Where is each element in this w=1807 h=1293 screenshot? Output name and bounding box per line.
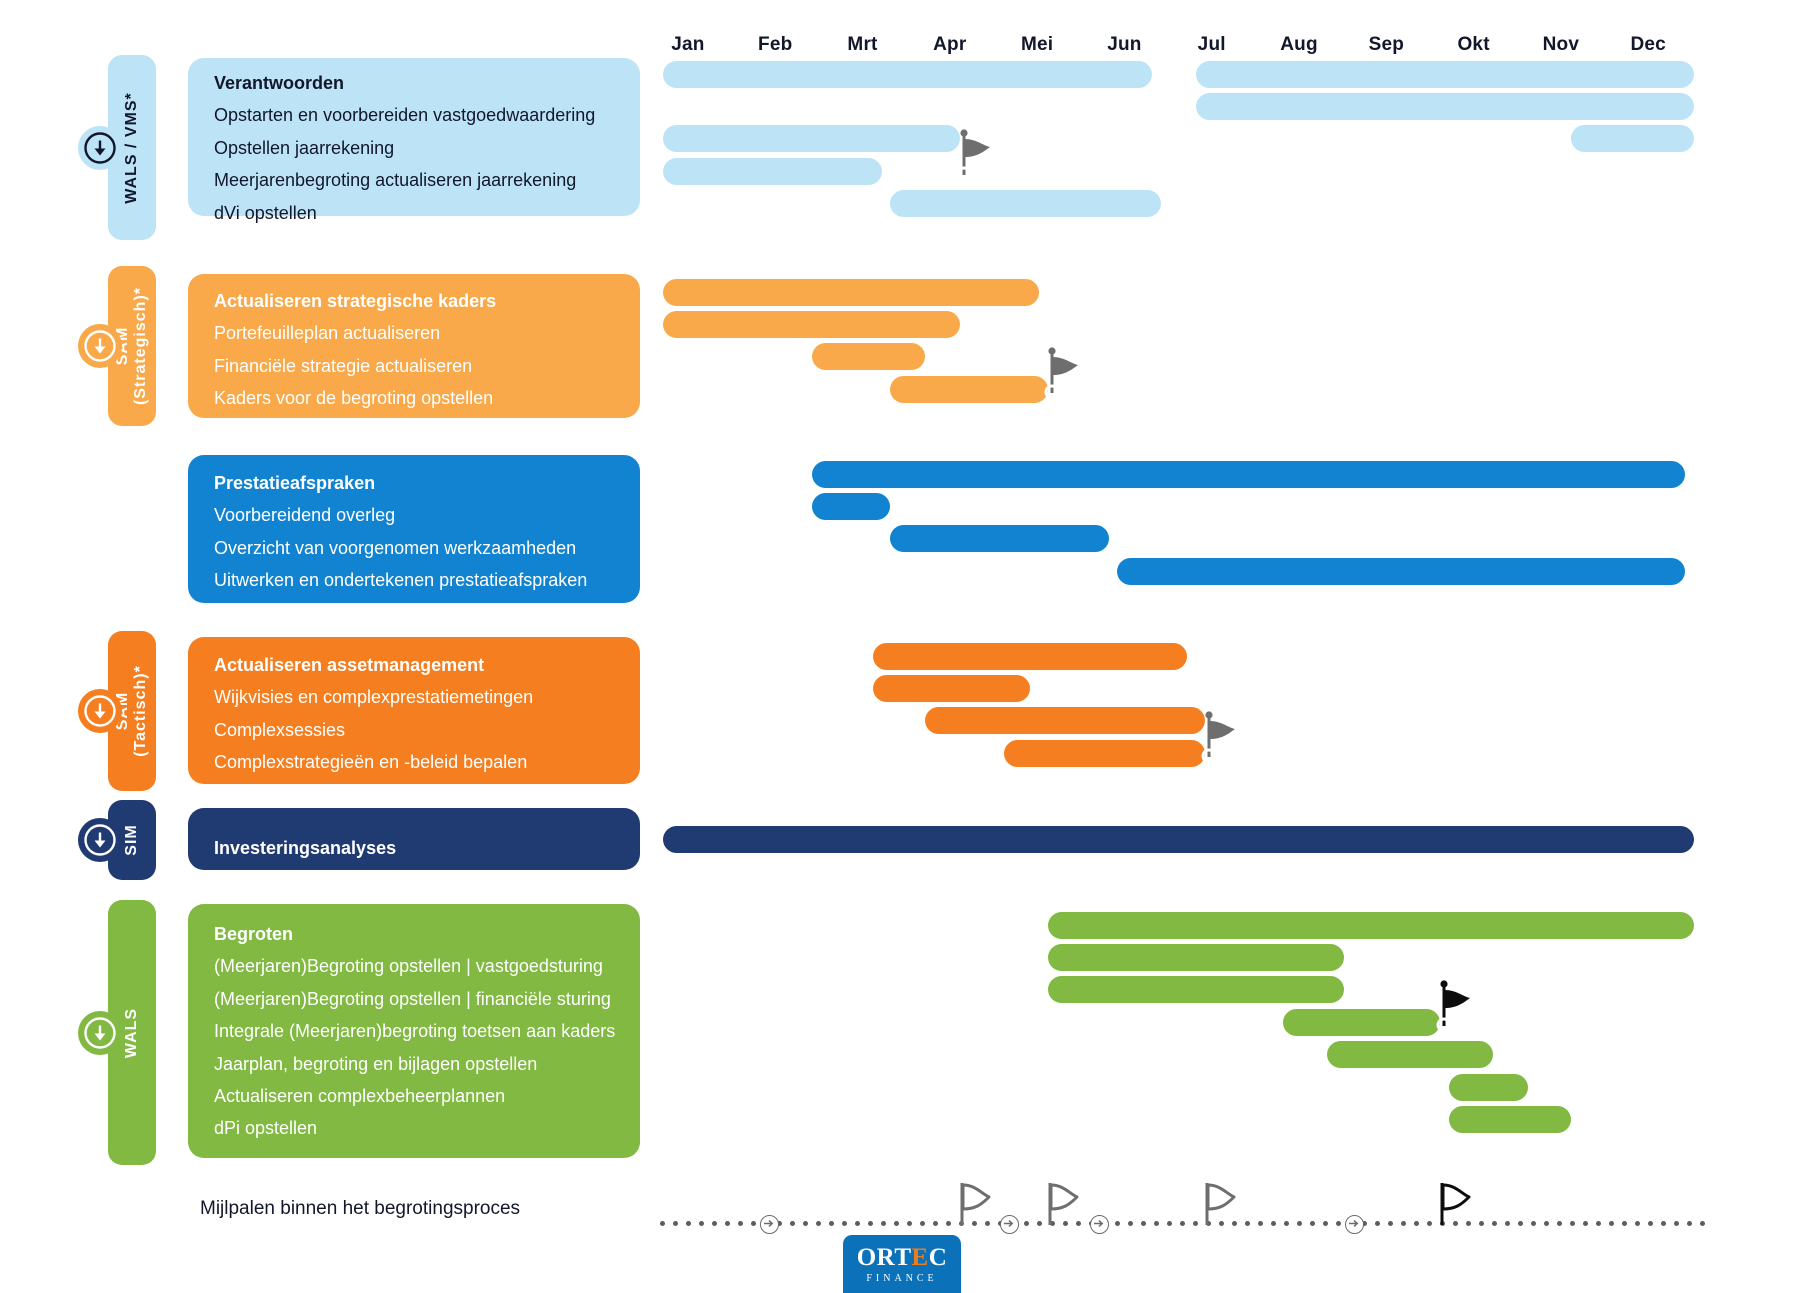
timeline-dot: [829, 1221, 834, 1226]
gantt-bar[interactable]: [1449, 1074, 1528, 1101]
timeline-dot: [1388, 1221, 1393, 1226]
task-label: Opstellen jaarrekening: [214, 139, 394, 157]
milestone-flag-icon: [1436, 978, 1482, 1034]
logo-subtitle: FINANCE: [866, 1274, 937, 1284]
month-label-nov: Nov: [1543, 34, 1580, 56]
task-label: Wijkvisies en complexprestatiemetingen: [214, 688, 533, 706]
timeline-dot: [920, 1221, 925, 1226]
gantt-bar[interactable]: [663, 158, 881, 185]
timeline-dot: [1427, 1221, 1432, 1226]
gantt-bar[interactable]: [1283, 1009, 1440, 1036]
section-card-wals: Begroten(Meerjaren)Begroting opstellen |…: [188, 904, 640, 1158]
month-label-feb: Feb: [758, 34, 792, 56]
timeline-dot: [1544, 1221, 1549, 1226]
footer-milestone-flag-icon[interactable]: [1042, 1179, 1088, 1231]
timeline-dot: [1674, 1221, 1679, 1226]
timeline-dot: [1401, 1221, 1406, 1226]
timeline-dot: [1492, 1221, 1497, 1226]
task-label: Kaders voor de begroting opstellen: [214, 389, 493, 407]
task-label: Actualiseren assetmanagement: [214, 656, 484, 674]
timeline-dot: [686, 1221, 691, 1226]
timeline-dot: [1687, 1221, 1692, 1226]
timeline-dot: [1180, 1221, 1185, 1226]
gantt-bar[interactable]: [663, 125, 960, 152]
gantt-bar[interactable]: [925, 707, 1204, 734]
timeline-dot: [1245, 1221, 1250, 1226]
ortec-finance-logo: ORTEC FINANCE: [843, 1235, 961, 1293]
month-label-mei: Mei: [1021, 34, 1053, 56]
task-label: Portefeuilleplan actualiseren: [214, 324, 440, 342]
gantt-bar[interactable]: [890, 376, 1047, 403]
gantt-bar[interactable]: [663, 826, 1693, 853]
footer-milestone-flag-icon[interactable]: [1434, 1179, 1480, 1231]
gantt-bar[interactable]: [890, 190, 1161, 217]
section-tab-label-sim: SIM: [123, 824, 141, 855]
timeline-dot: [1375, 1221, 1380, 1226]
timeline-dot: [712, 1221, 717, 1226]
task-label: Complexstrategieën en -beleid bepalen: [214, 753, 527, 771]
gantt-bar[interactable]: [663, 61, 1152, 88]
timeline-dot: [907, 1221, 912, 1226]
milestone-timeline: [0, 1180, 1807, 1240]
task-label: dPi opstellen: [214, 1119, 317, 1137]
timeline-dot: [1284, 1221, 1289, 1226]
month-label-sep: Sep: [1369, 34, 1404, 56]
gantt-bar[interactable]: [1117, 558, 1684, 585]
timeline-dot: [855, 1221, 860, 1226]
gantt-bar[interactable]: [663, 279, 1038, 306]
timeline-dot: [1622, 1221, 1627, 1226]
logo-wordmark: ORTEC: [857, 1245, 948, 1270]
month-label-dec: Dec: [1630, 34, 1665, 56]
timeline-dot: [1115, 1221, 1120, 1226]
timeline-dot: [1700, 1221, 1705, 1226]
timeline-dot: [1193, 1221, 1198, 1226]
task-label: Actualiseren complexbeheerplannen: [214, 1087, 505, 1105]
gantt-bar[interactable]: [1327, 1041, 1493, 1068]
task-label: Begroten: [214, 925, 293, 943]
gantt-bar[interactable]: [873, 675, 1030, 702]
gantt-bar[interactable]: [812, 461, 1685, 488]
timeline-dot: [1531, 1221, 1536, 1226]
timeline-dot: [803, 1221, 808, 1226]
timeline-dot: [660, 1221, 665, 1226]
task-label: Verantwoorden: [214, 74, 344, 92]
month-label-okt: Okt: [1457, 34, 1489, 56]
timeline-arrow-icon: [760, 1215, 779, 1234]
task-label: (Meerjaren)Begroting opstellen | financi…: [214, 990, 611, 1008]
task-label: Investeringsanalyses: [214, 839, 396, 857]
timeline-dot: [868, 1221, 873, 1226]
task-label: (Meerjaren)Begroting opstellen | vastgoe…: [214, 957, 603, 975]
task-label: Meerjarenbegroting actualiseren jaarreke…: [214, 171, 576, 189]
section-tab-label-wals-vms: WALS / VMS*: [123, 92, 141, 203]
section-tab-sim[interactable]: SIM: [108, 800, 156, 880]
timeline-dot: [1505, 1221, 1510, 1226]
timeline-dot: [1661, 1221, 1666, 1226]
timeline-dot: [1258, 1221, 1263, 1226]
gantt-bar[interactable]: [812, 343, 925, 370]
timeline-dot: [1167, 1221, 1172, 1226]
timeline-dot: [699, 1221, 704, 1226]
timeline-dot: [1323, 1221, 1328, 1226]
timeline-dot: [738, 1221, 743, 1226]
timeline-dot: [673, 1221, 678, 1226]
download-circle-icon: [78, 126, 122, 170]
timeline-dot: [1141, 1221, 1146, 1226]
gantt-bar[interactable]: [1048, 912, 1694, 939]
footer-milestone-flag-icon[interactable]: [1199, 1179, 1245, 1231]
section-tab-label-wals: WALS: [123, 1007, 141, 1057]
timeline-dot: [946, 1221, 951, 1226]
timeline-dot: [1128, 1221, 1133, 1226]
timeline-dot: [790, 1221, 795, 1226]
task-label: Integrale (Meerjaren)begroting toetsen a…: [214, 1022, 615, 1040]
timeline-arrow-icon: [1345, 1215, 1364, 1234]
timeline-arrow-icon: [1090, 1215, 1109, 1234]
gantt-bar[interactable]: [1196, 61, 1694, 88]
timeline-dot: [1635, 1221, 1640, 1226]
milestone-flag-icon: [1201, 709, 1247, 765]
timeline-arrow-icon: [1000, 1215, 1019, 1234]
timeline-dot: [1414, 1221, 1419, 1226]
section-tab-wals[interactable]: WALS: [108, 900, 156, 1165]
timeline-dot: [1596, 1221, 1601, 1226]
timeline-dot: [1570, 1221, 1575, 1226]
timeline-dot: [1154, 1221, 1159, 1226]
task-label: Voorbereidend overleg: [214, 506, 395, 524]
gantt-bar[interactable]: [1196, 93, 1694, 120]
timeline-dot: [1609, 1221, 1614, 1226]
task-label: Opstarten en voorbereiden vastgoedwaarde…: [214, 106, 595, 124]
gantt-bar[interactable]: [873, 643, 1187, 670]
timeline-dot: [1557, 1221, 1562, 1226]
month-label-mrt: Mrt: [847, 34, 877, 56]
milestone-flag-icon: [956, 127, 1002, 183]
timeline-dot: [933, 1221, 938, 1226]
task-label: Prestatieafspraken: [214, 474, 375, 492]
timeline-dot: [725, 1221, 730, 1226]
gantt-bar[interactable]: [663, 311, 960, 338]
month-label-aug: Aug: [1280, 34, 1318, 56]
month-label-jun: Jun: [1107, 34, 1141, 56]
task-label: Actualiseren strategische kaders: [214, 292, 496, 310]
section-card-sam-tactisch: Actualiseren assetmanagementWijkvisies e…: [188, 637, 640, 784]
footer-milestone-flag-icon[interactable]: [954, 1179, 1000, 1231]
timeline-dot: [894, 1221, 899, 1226]
gantt-bar[interactable]: [1004, 740, 1205, 767]
timeline-dot: [751, 1221, 756, 1226]
task-label: Financiële strategie actualiseren: [214, 357, 472, 375]
download-circle-icon: [78, 689, 122, 733]
download-circle-icon: [78, 818, 122, 862]
gantt-bar[interactable]: [1048, 944, 1345, 971]
gantt-bar[interactable]: [1048, 976, 1345, 1003]
timeline-dot: [1297, 1221, 1302, 1226]
month-label-jul: Jul: [1198, 34, 1226, 56]
gantt-bar[interactable]: [1449, 1106, 1571, 1133]
download-circle-icon: [78, 1011, 122, 1055]
section-tab-sam-strategisch[interactable]: SAM (Strategisch)*: [108, 266, 156, 426]
timeline-dot: [1583, 1221, 1588, 1226]
timeline-dot: [816, 1221, 821, 1226]
gantt-bar[interactable]: [890, 525, 1108, 552]
task-label: Jaarplan, begroting en bijlagen opstelle…: [214, 1055, 537, 1073]
timeline-dot: [1648, 1221, 1653, 1226]
section-card-prestatieafspraken: PrestatieafsprakenVoorbereidend overlegO…: [188, 455, 640, 603]
task-label: Complexsessies: [214, 721, 345, 739]
gantt-bar[interactable]: [1571, 125, 1693, 152]
timeline-dot: [1271, 1221, 1276, 1226]
section-card-sam-strategisch: Actualiseren strategische kadersPortefeu…: [188, 274, 640, 418]
timeline-dot: [842, 1221, 847, 1226]
month-label-jan: Jan: [671, 34, 704, 56]
timeline-dot: [881, 1221, 886, 1226]
task-label: Uitwerken en ondertekenen prestatieafspr…: [214, 571, 587, 589]
month-label-apr: Apr: [933, 34, 966, 56]
section-card-wals-vms: VerantwoordenOpstarten en voorbereiden v…: [188, 58, 640, 216]
download-circle-icon: [78, 324, 122, 368]
timeline-dot: [1310, 1221, 1315, 1226]
section-tab-wals-vms[interactable]: WALS / VMS*: [108, 55, 156, 240]
timeline-month-header: JanFebMrtAprMeiJunJulAugSepOktNovDec: [0, 34, 1807, 60]
milestone-flag-icon: [1044, 345, 1090, 401]
timeline-dot: [1518, 1221, 1523, 1226]
task-label: Overzicht van voorgenomen werkzaamheden: [214, 539, 576, 557]
gantt-bar[interactable]: [812, 493, 891, 520]
section-tab-sam-tactisch[interactable]: SAM (Tactisch)*: [108, 631, 156, 791]
timeline-dot: [1024, 1221, 1029, 1226]
section-card-sim: Investeringsanalyses: [188, 808, 640, 870]
timeline-dot: [1336, 1221, 1341, 1226]
task-label: dVi opstellen: [214, 204, 317, 222]
